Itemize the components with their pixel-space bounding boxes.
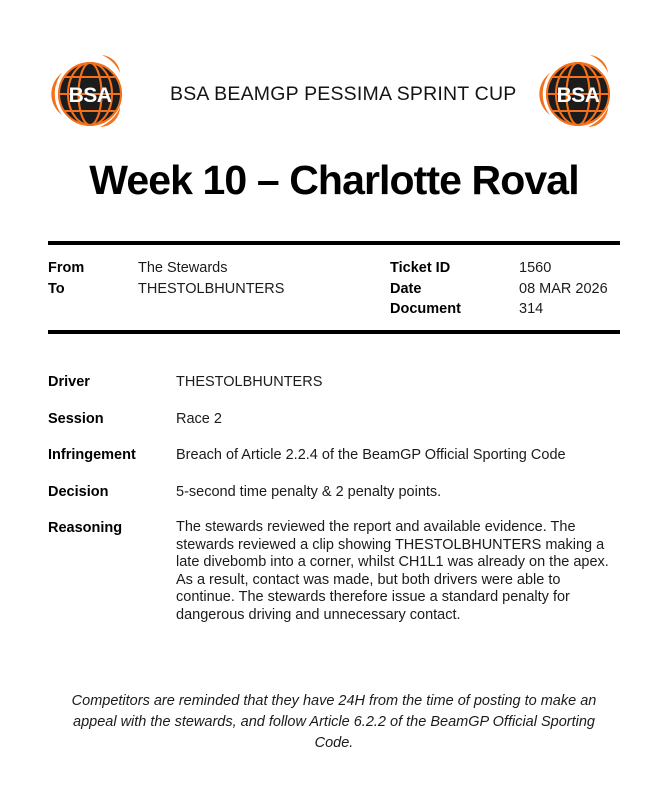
meta-column-left: From To The Stewards THESTOLBHUNTERS xyxy=(48,258,390,320)
detail-label-driver: Driver xyxy=(48,373,176,391)
document-header: BSA BSA BEAMGP PESSIMA SPRINT CUP xyxy=(0,52,668,136)
stewards-decision-document: BSA BSA BEAMGP PESSIMA SPRINT CUP xyxy=(0,0,668,803)
meta-value-document: 314 xyxy=(519,299,608,320)
meta-rule-bottom xyxy=(48,330,620,334)
detail-row-session: Session Race 2 xyxy=(48,410,620,428)
meta-columns: From To The Stewards THESTOLBHUNTERS Tic… xyxy=(48,245,620,330)
detail-value-driver: THESTOLBHUNTERS xyxy=(176,373,620,391)
meta-right-values: 1560 08 MAR 2026 314 xyxy=(519,258,608,320)
detail-value-session: Race 2 xyxy=(176,410,620,428)
meta-value-to: THESTOLBHUNTERS xyxy=(138,279,284,300)
meta-column-right: Ticket ID Date Document 1560 08 MAR 2026… xyxy=(390,258,620,320)
meta-value-from: The Stewards xyxy=(138,258,284,279)
detail-list: Driver THESTOLBHUNTERS Session Race 2 In… xyxy=(48,373,620,625)
detail-label-infringement: Infringement xyxy=(48,446,176,464)
svg-text:BSA: BSA xyxy=(69,84,112,107)
meta-value-date: 08 MAR 2026 xyxy=(519,279,608,300)
meta-left-values: The Stewards THESTOLBHUNTERS xyxy=(138,258,284,320)
detail-row-decision: Decision 5-second time penalty & 2 penal… xyxy=(48,483,620,501)
bsa-globe-logo-right: BSA xyxy=(536,53,620,135)
meta-left-labels: From To xyxy=(48,258,138,320)
meta-label-from: From xyxy=(48,258,138,279)
detail-row-infringement: Infringement Breach of Article 2.2.4 of … xyxy=(48,446,620,464)
detail-row-reasoning: Reasoning The stewards reviewed the repo… xyxy=(48,519,620,625)
appeal-notice: Competitors are reminded that they have … xyxy=(62,691,606,754)
detail-label-reasoning: Reasoning xyxy=(48,519,176,537)
meta-label-ticket-id: Ticket ID xyxy=(390,258,519,279)
meta-value-ticket-id: 1560 xyxy=(519,258,608,279)
meta-right-labels: Ticket ID Date Document xyxy=(390,258,519,320)
detail-label-decision: Decision xyxy=(48,483,176,501)
detail-label-session: Session xyxy=(48,410,176,428)
meta-label-to: To xyxy=(48,279,138,300)
detail-row-driver: Driver THESTOLBHUNTERS xyxy=(48,373,620,391)
detail-value-decision: 5-second time penalty & 2 penalty points… xyxy=(176,483,620,501)
header-title: BSA BEAMGP PESSIMA SPRINT CUP xyxy=(132,83,536,106)
meta-block: From To The Stewards THESTOLBHUNTERS Tic… xyxy=(48,241,620,334)
bsa-globe-logo-left: BSA xyxy=(48,53,132,135)
meta-label-date: Date xyxy=(390,279,519,300)
meta-label-document: Document xyxy=(390,299,519,320)
svg-text:BSA: BSA xyxy=(557,84,600,107)
detail-value-infringement: Breach of Article 2.2.4 of the BeamGP Of… xyxy=(176,446,620,464)
detail-value-reasoning: The stewards reviewed the report and ava… xyxy=(176,519,620,625)
page-title: Week 10 – Charlotte Roval xyxy=(0,158,668,204)
